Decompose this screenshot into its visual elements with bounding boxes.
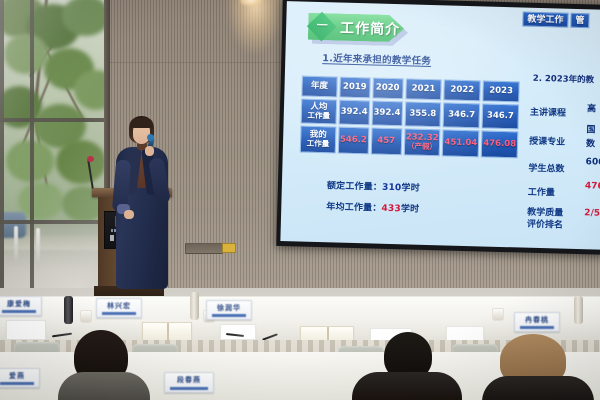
banner-number: 一 xyxy=(314,18,330,34)
placard-bar xyxy=(2,310,36,313)
paper-sheet xyxy=(6,320,46,340)
wall-vent xyxy=(185,243,223,254)
paper-sheet xyxy=(220,324,256,340)
placard-name: 林兴宏 xyxy=(97,301,141,311)
placard-bar xyxy=(212,314,246,317)
name-placard: 冉春桃 xyxy=(514,312,560,332)
table-row: 我的 工作量 546.2 457 232.32 （产假） 451.04 476.… xyxy=(300,126,519,159)
banner-title: 工作简介 xyxy=(340,18,401,40)
table-row: 人均 工作量 392.4 392.4 355.8 346.7 346.7 xyxy=(301,99,520,130)
table-cell: 355.8 xyxy=(404,101,441,127)
right-row-quality-value: 2/5 xyxy=(584,208,600,218)
speaker-presenter xyxy=(110,116,174,298)
section-heading: 1.近年来承担的教学任务 xyxy=(322,50,431,67)
right-column-heading: 2. 2023年的教 xyxy=(533,72,595,86)
paper-cup xyxy=(80,310,92,323)
right-row-quality-2: 评价排名 xyxy=(527,212,564,232)
right-row-label-2: 评价排名 xyxy=(527,220,563,231)
footnote-value: 433 xyxy=(381,204,401,215)
notebook-spine xyxy=(167,323,169,341)
placard-bar xyxy=(102,312,136,315)
table-cell: 2019 xyxy=(339,77,370,99)
placard-name: 冉春桃 xyxy=(515,315,559,325)
footnote-average: 年均工作量：433学时 xyxy=(326,199,419,215)
name-placard: 段春燕 xyxy=(164,372,214,393)
table-cell: 457 xyxy=(370,127,402,155)
section-banner: 一 工作简介 xyxy=(308,13,405,43)
slide-right-column: 2. 2023年的教 主讲课程 高 授课专业 国 数 学生总数 600 xyxy=(523,8,600,250)
right-row-students: 学生总数 xyxy=(528,156,565,176)
table-cell: 476.08 xyxy=(481,130,519,158)
footnote-value: 310 xyxy=(382,183,402,194)
microphone-tip xyxy=(147,134,154,141)
table-cell: 2023 xyxy=(482,80,519,102)
name-placard: 康爱梅 xyxy=(0,296,42,316)
thermos-bottle xyxy=(64,296,73,324)
table-cell-with-note: 232.32 （产假） xyxy=(403,128,441,156)
thermos-bottle xyxy=(574,296,583,324)
right-row-major-value-1: 国 xyxy=(586,122,595,135)
table-rowheader-mine: 我的 工作量 xyxy=(300,126,336,154)
audience-shoulders xyxy=(482,376,594,400)
right-row-label: 授课专业 xyxy=(529,137,565,148)
screen-surface: 教学工作 管 一 工作简介 1.近年来承担的教学任务 年度 xyxy=(280,1,600,250)
placard-name: 段春燕 xyxy=(165,375,213,385)
workload-table: 年度 2019 2020 2021 2022 2023 人均 工作量 392.4 xyxy=(298,73,522,160)
speaker-hand-right xyxy=(145,146,154,156)
projection-screen: 教学工作 管 一 工作简介 1.近年来承担的教学任务 年度 xyxy=(276,0,600,255)
cell-note: （产假） xyxy=(405,142,438,152)
table-cell: 346.7 xyxy=(482,103,519,129)
placard-bar xyxy=(0,382,34,385)
table-cell: 2022 xyxy=(444,79,481,101)
right-row-major: 授课专业 xyxy=(529,129,566,149)
table-rowheader-average: 人均 工作量 xyxy=(301,99,337,125)
audience-shoulders xyxy=(58,372,150,400)
rowheader-line2: 工作量 xyxy=(302,140,334,150)
speaker-hand-left xyxy=(124,210,134,219)
placard-bar xyxy=(170,387,208,390)
right-row-course: 主讲课程 xyxy=(530,100,567,120)
presentation-slide: 教学工作 管 一 工作简介 1.近年来承担的教学任务 年度 xyxy=(280,1,600,250)
thermos-bottle xyxy=(190,292,199,320)
placard-bar xyxy=(520,326,554,329)
table-cell: 392.4 xyxy=(338,100,370,126)
placard-name: 康爱梅 xyxy=(0,299,41,309)
placard-name: 徐润华 xyxy=(207,303,251,313)
window xyxy=(0,0,110,300)
wall-sticker xyxy=(222,243,236,253)
rowheader-line2: 工作量 xyxy=(303,112,335,122)
name-placard: 林兴宏 xyxy=(96,298,142,318)
speaker-bangs xyxy=(130,118,153,128)
podium-microphone-head xyxy=(87,156,94,162)
paper-cup xyxy=(492,308,504,321)
footnote-label: 年均工作量： xyxy=(326,202,381,213)
right-row-workload-value: 476 xyxy=(585,181,600,192)
right-row-major-value-2: 数 xyxy=(586,136,595,149)
name-placard: 徐润华 xyxy=(206,300,252,320)
footnote-unit: 学时 xyxy=(401,183,420,193)
table-cell: 2020 xyxy=(372,77,403,99)
footnote-quota: 额定工作量：310学时 xyxy=(327,178,420,194)
name-placard: 爱燕 xyxy=(0,368,40,388)
table-rowheader-year: 年度 xyxy=(301,76,337,98)
screenshot-root: 教学工作 管 一 工作简介 1.近年来承担的教学任务 年度 xyxy=(0,0,600,400)
right-row-label: 工作量 xyxy=(528,188,555,199)
table-cell: 546.2 xyxy=(338,127,370,155)
footnote-unit: 学时 xyxy=(401,204,420,214)
table-cell: 2021 xyxy=(405,78,442,100)
open-notebook xyxy=(142,322,192,342)
table-cell: 392.4 xyxy=(371,100,403,126)
right-row-label: 主讲课程 xyxy=(530,108,566,119)
audience-shoulders xyxy=(352,372,462,400)
right-row-label: 学生总数 xyxy=(528,164,564,175)
right-row-workload: 工作量 xyxy=(528,180,556,200)
table-row: 年度 2019 2020 2021 2022 2023 xyxy=(301,76,519,103)
right-row-students-value: 600 xyxy=(585,157,600,168)
table-cell: 346.7 xyxy=(443,102,480,128)
footnote-label: 额定工作量： xyxy=(327,181,382,192)
table-cell: 451.04 xyxy=(442,129,480,157)
right-row-course-value: 高 xyxy=(587,101,596,114)
placard-name: 爱燕 xyxy=(0,371,39,381)
